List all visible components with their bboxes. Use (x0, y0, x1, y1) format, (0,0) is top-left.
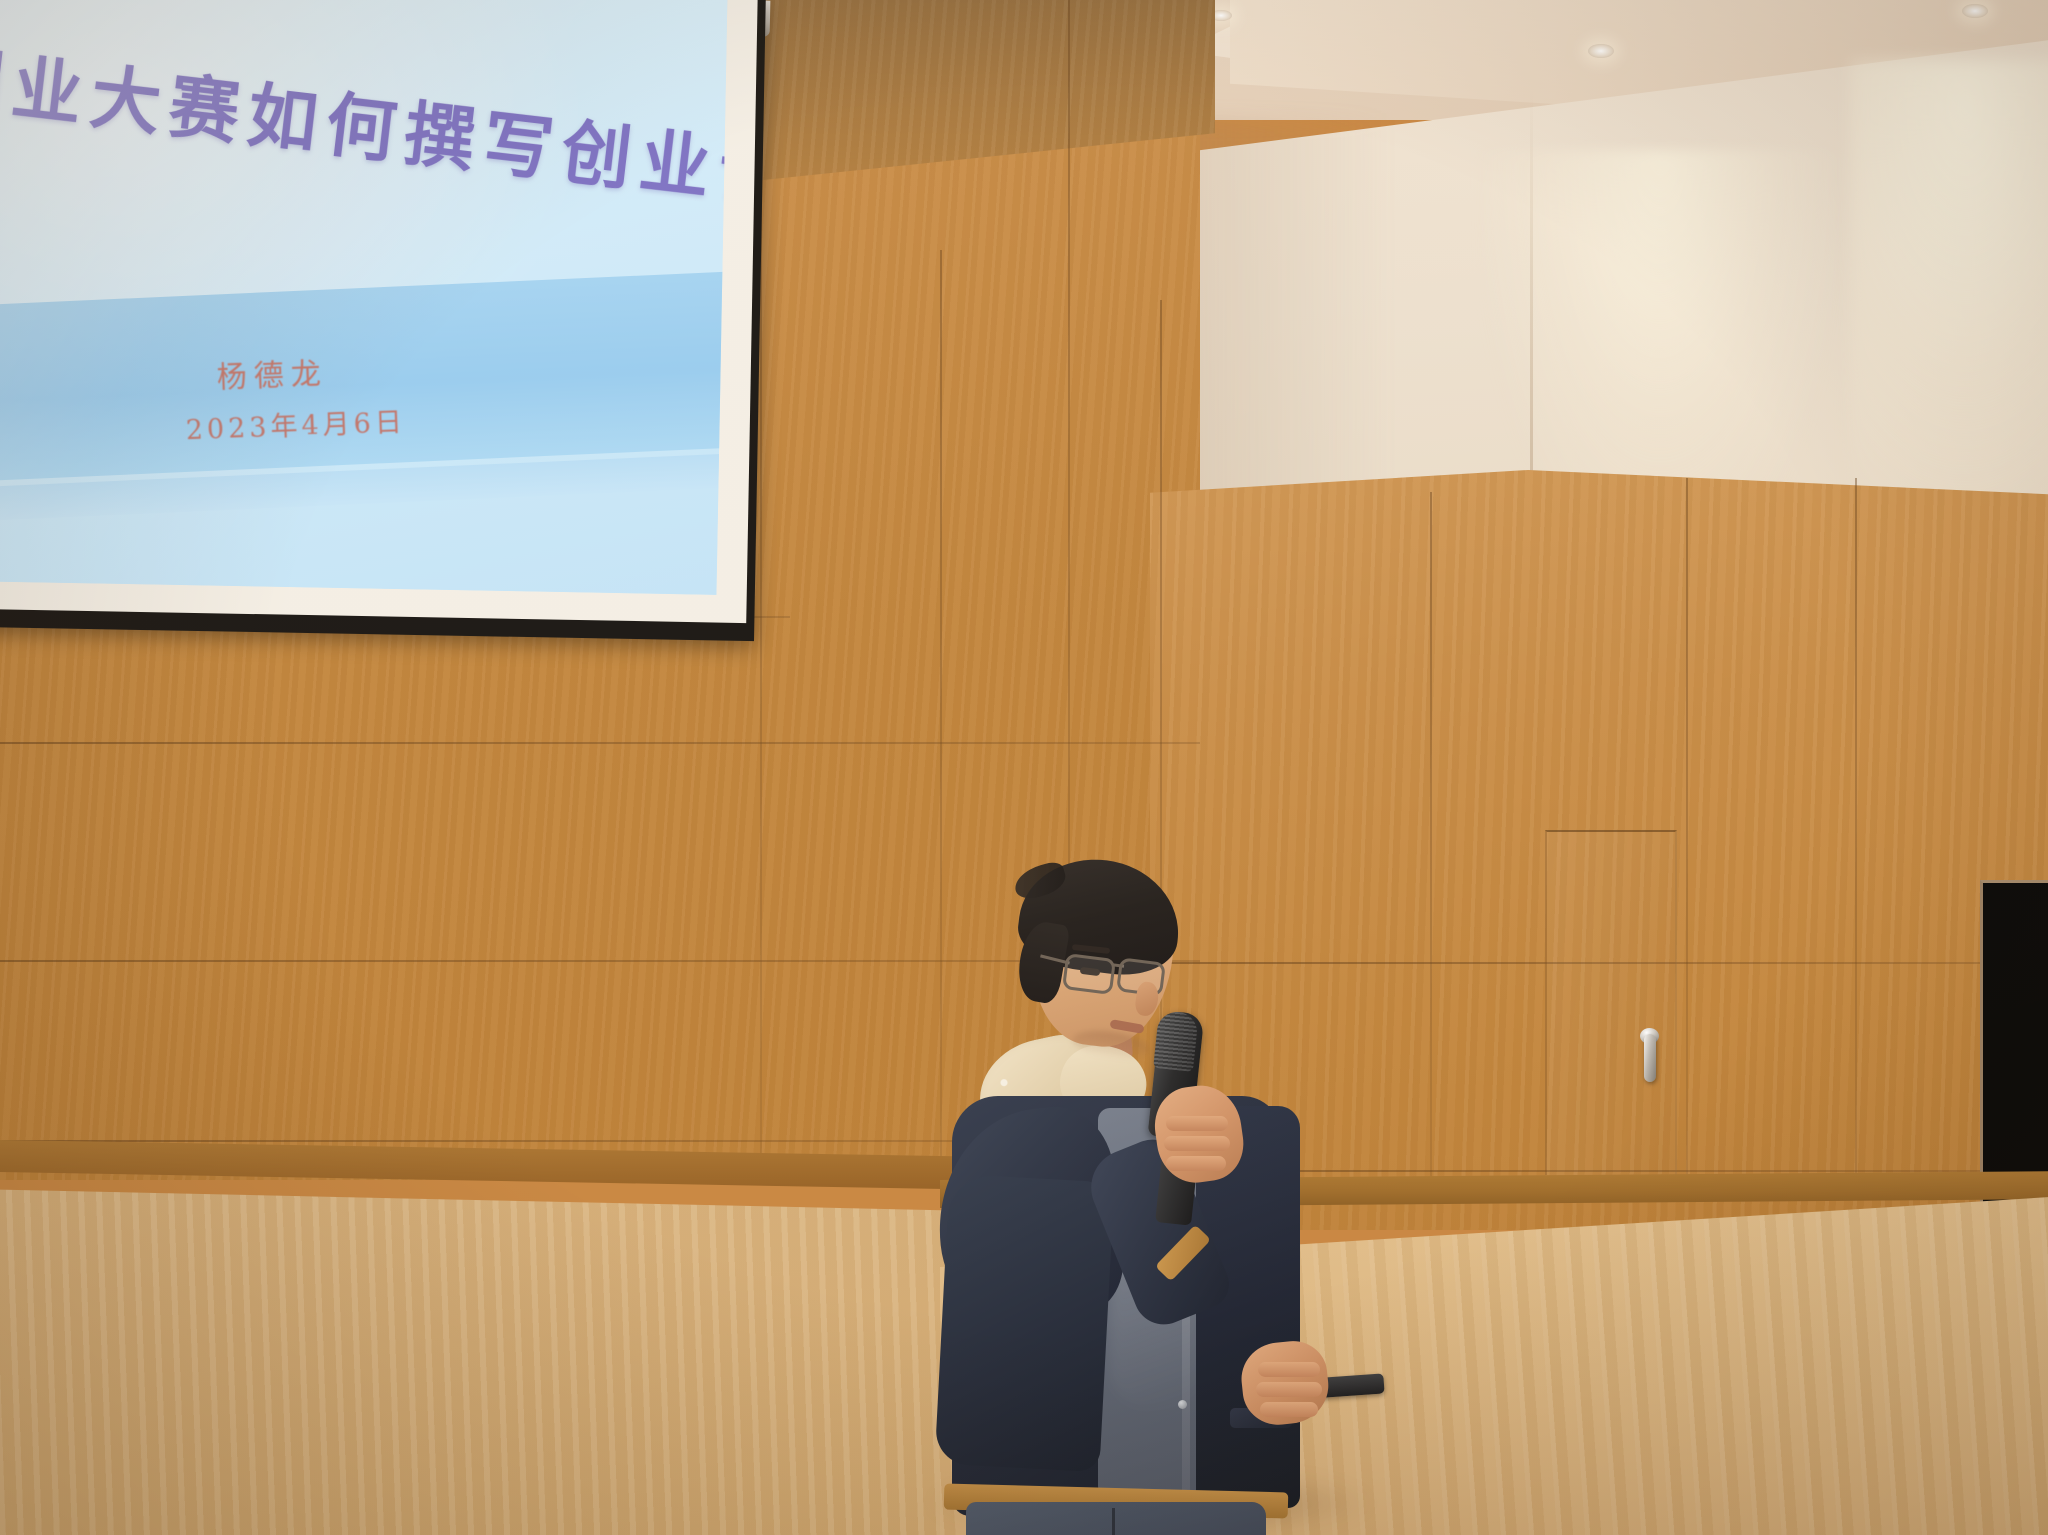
wall-seam (0, 1140, 1000, 1142)
wall-seam (940, 250, 942, 1180)
black-wall-panel (1980, 880, 2048, 1210)
door-handle[interactable] (1644, 1034, 1656, 1082)
downlight-icon (1962, 4, 1988, 18)
wall-light-pool-right (1850, 60, 2048, 540)
finger (1164, 1136, 1230, 1151)
finger (1166, 1156, 1226, 1171)
jacket-snap (1178, 1400, 1187, 1409)
presenter (960, 860, 1380, 1535)
finger (1256, 1382, 1322, 1397)
finger (1258, 1362, 1320, 1377)
wall-seam (1855, 478, 1857, 1194)
wall-corner-edge (1530, 88, 1533, 518)
jeans-seam (1112, 1508, 1115, 1535)
concealed-door[interactable] (1545, 830, 1677, 1175)
arm-left (935, 1174, 1115, 1472)
downlight-icon (1588, 44, 1614, 58)
floor-left (0, 1175, 1000, 1535)
jeans (966, 1502, 1266, 1535)
wall-seam (1430, 492, 1432, 1192)
projection-screen[interactable]: 加创业大赛如何撰写创业计划书 杨德龙 2023年4月6日 (0, 0, 727, 595)
microphone-grille (1153, 1010, 1199, 1072)
photo-scene: 加创业大赛如何撰写创业计划书 杨德龙 2023年4月6日 (0, 0, 2048, 1535)
wall-seam (0, 742, 1200, 744)
glasses-lens-left (1062, 953, 1116, 995)
wall-seam (1686, 478, 1688, 1194)
finger (1166, 1116, 1228, 1131)
finger (1260, 1402, 1318, 1417)
